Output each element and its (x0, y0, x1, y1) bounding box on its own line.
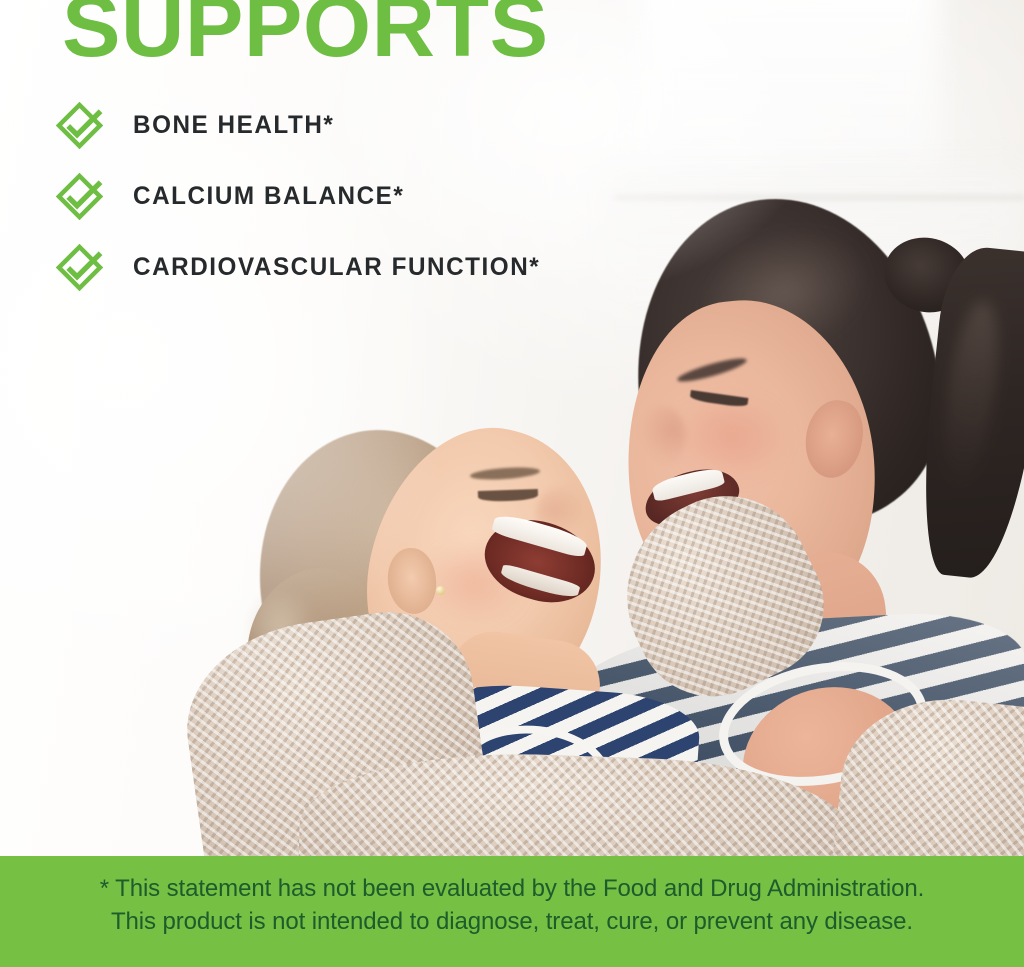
supplement-benefits-banner: SUPPORTS BONE HEALTH* CALCIUM BALANCE* (0, 0, 1024, 967)
window-light-pane (640, 0, 940, 190)
window-frame-line (615, 196, 1024, 199)
check-diamond-icon (56, 173, 103, 220)
check-diamond-icon (56, 244, 103, 291)
benefit-label: CALCIUM BALANCE* (133, 182, 404, 211)
list-item: BONE HEALTH* (56, 96, 553, 154)
list-item: CARDIOVASCULAR FUNCTION* (56, 238, 553, 296)
benefits-list: BONE HEALTH* CALCIUM BALANCE* CARDIOVASC… (56, 96, 553, 309)
list-item: CALCIUM BALANCE* (56, 167, 553, 225)
check-diamond-icon (56, 102, 103, 149)
benefit-label: BONE HEALTH* (133, 111, 334, 140)
mother-cheek-blush (672, 392, 790, 484)
benefit-label: CARDIOVASCULAR FUNCTION* (133, 253, 540, 282)
disclaimer-line-1: * This statement has not been evaluated … (0, 872, 1024, 905)
page-title: SUPPORTS (62, 0, 549, 70)
fda-disclaimer-banner: * This statement has not been evaluated … (0, 856, 1024, 967)
mother-nose (640, 406, 686, 466)
disclaimer-line-2: This product is not intended to diagnose… (0, 905, 1024, 938)
girl-earring (436, 586, 445, 595)
